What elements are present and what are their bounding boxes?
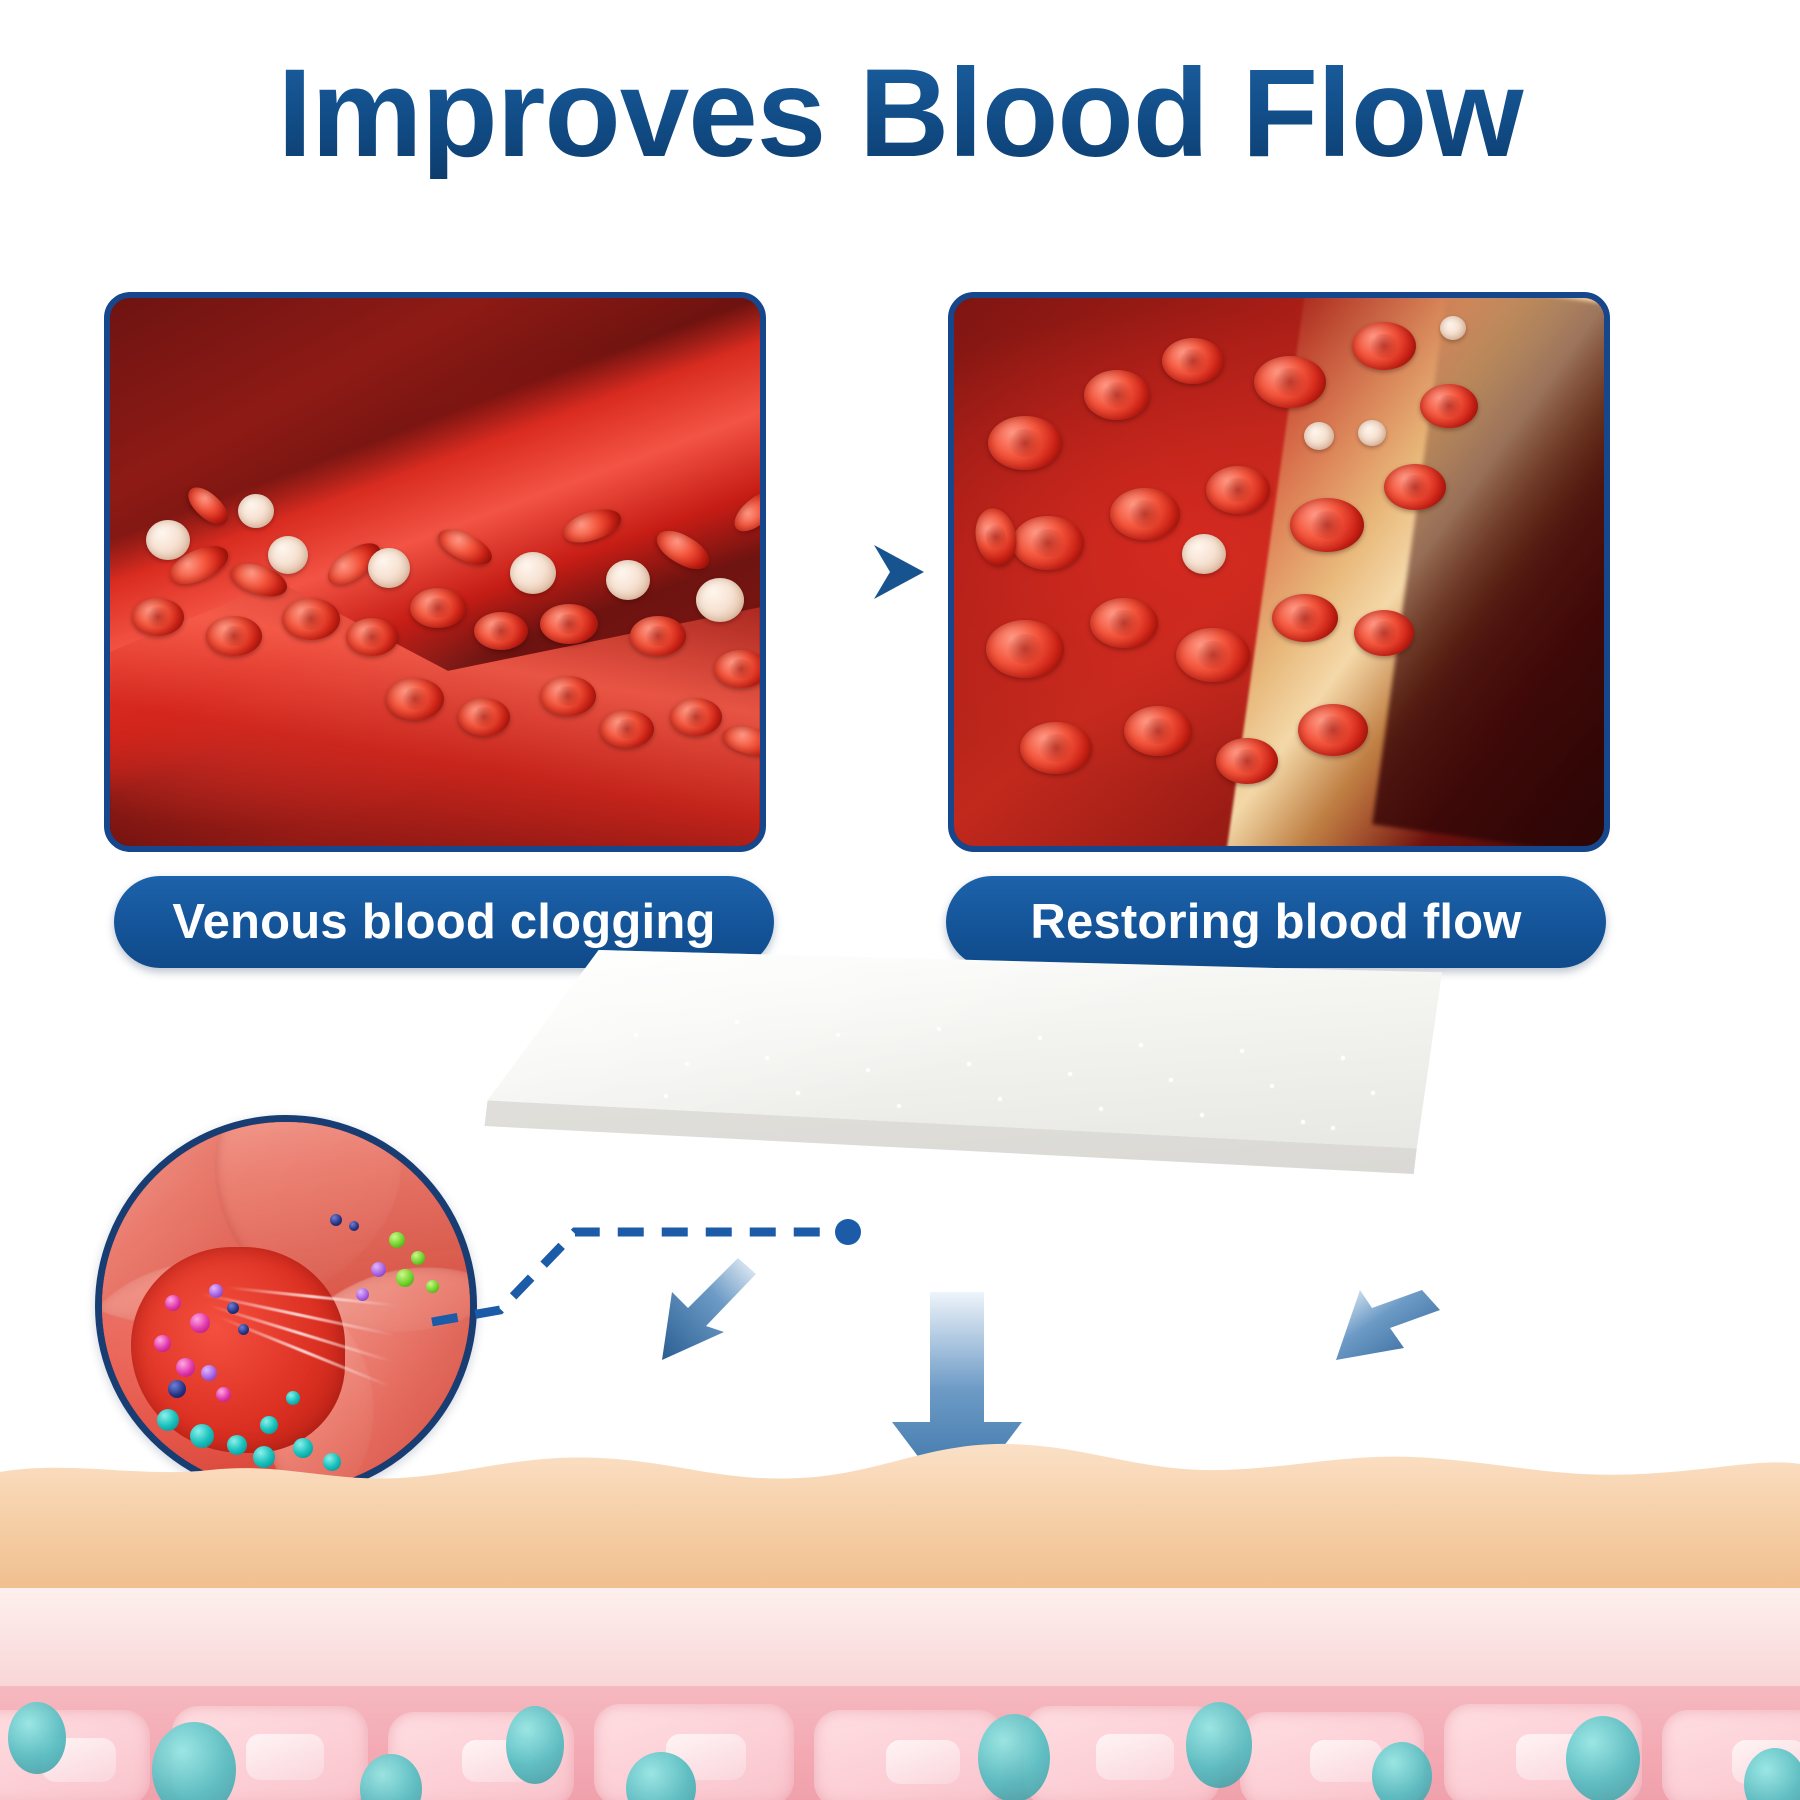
comparison-panel-before — [104, 292, 766, 852]
transdermal-patch — [432, 950, 1442, 1270]
skin-layer-dermis-upper — [0, 1588, 1800, 1698]
comparison-panel-after — [948, 292, 1610, 852]
absorption-arrow-left — [662, 1258, 756, 1360]
restored-flow-image — [954, 298, 1604, 846]
page-title: Improves Blood Flow — [0, 48, 1800, 179]
skin-cross-section — [0, 1438, 1800, 1800]
skin-layer-epidermis — [0, 1438, 1800, 1598]
clogged-vein-image — [110, 298, 760, 846]
absorption-arrow-right — [1336, 1290, 1440, 1360]
chevron-right-icon — [868, 541, 930, 603]
dermis-cell-row — [0, 1696, 1800, 1800]
infographic-canvas: Improves Blood Flow — [0, 0, 1800, 1800]
